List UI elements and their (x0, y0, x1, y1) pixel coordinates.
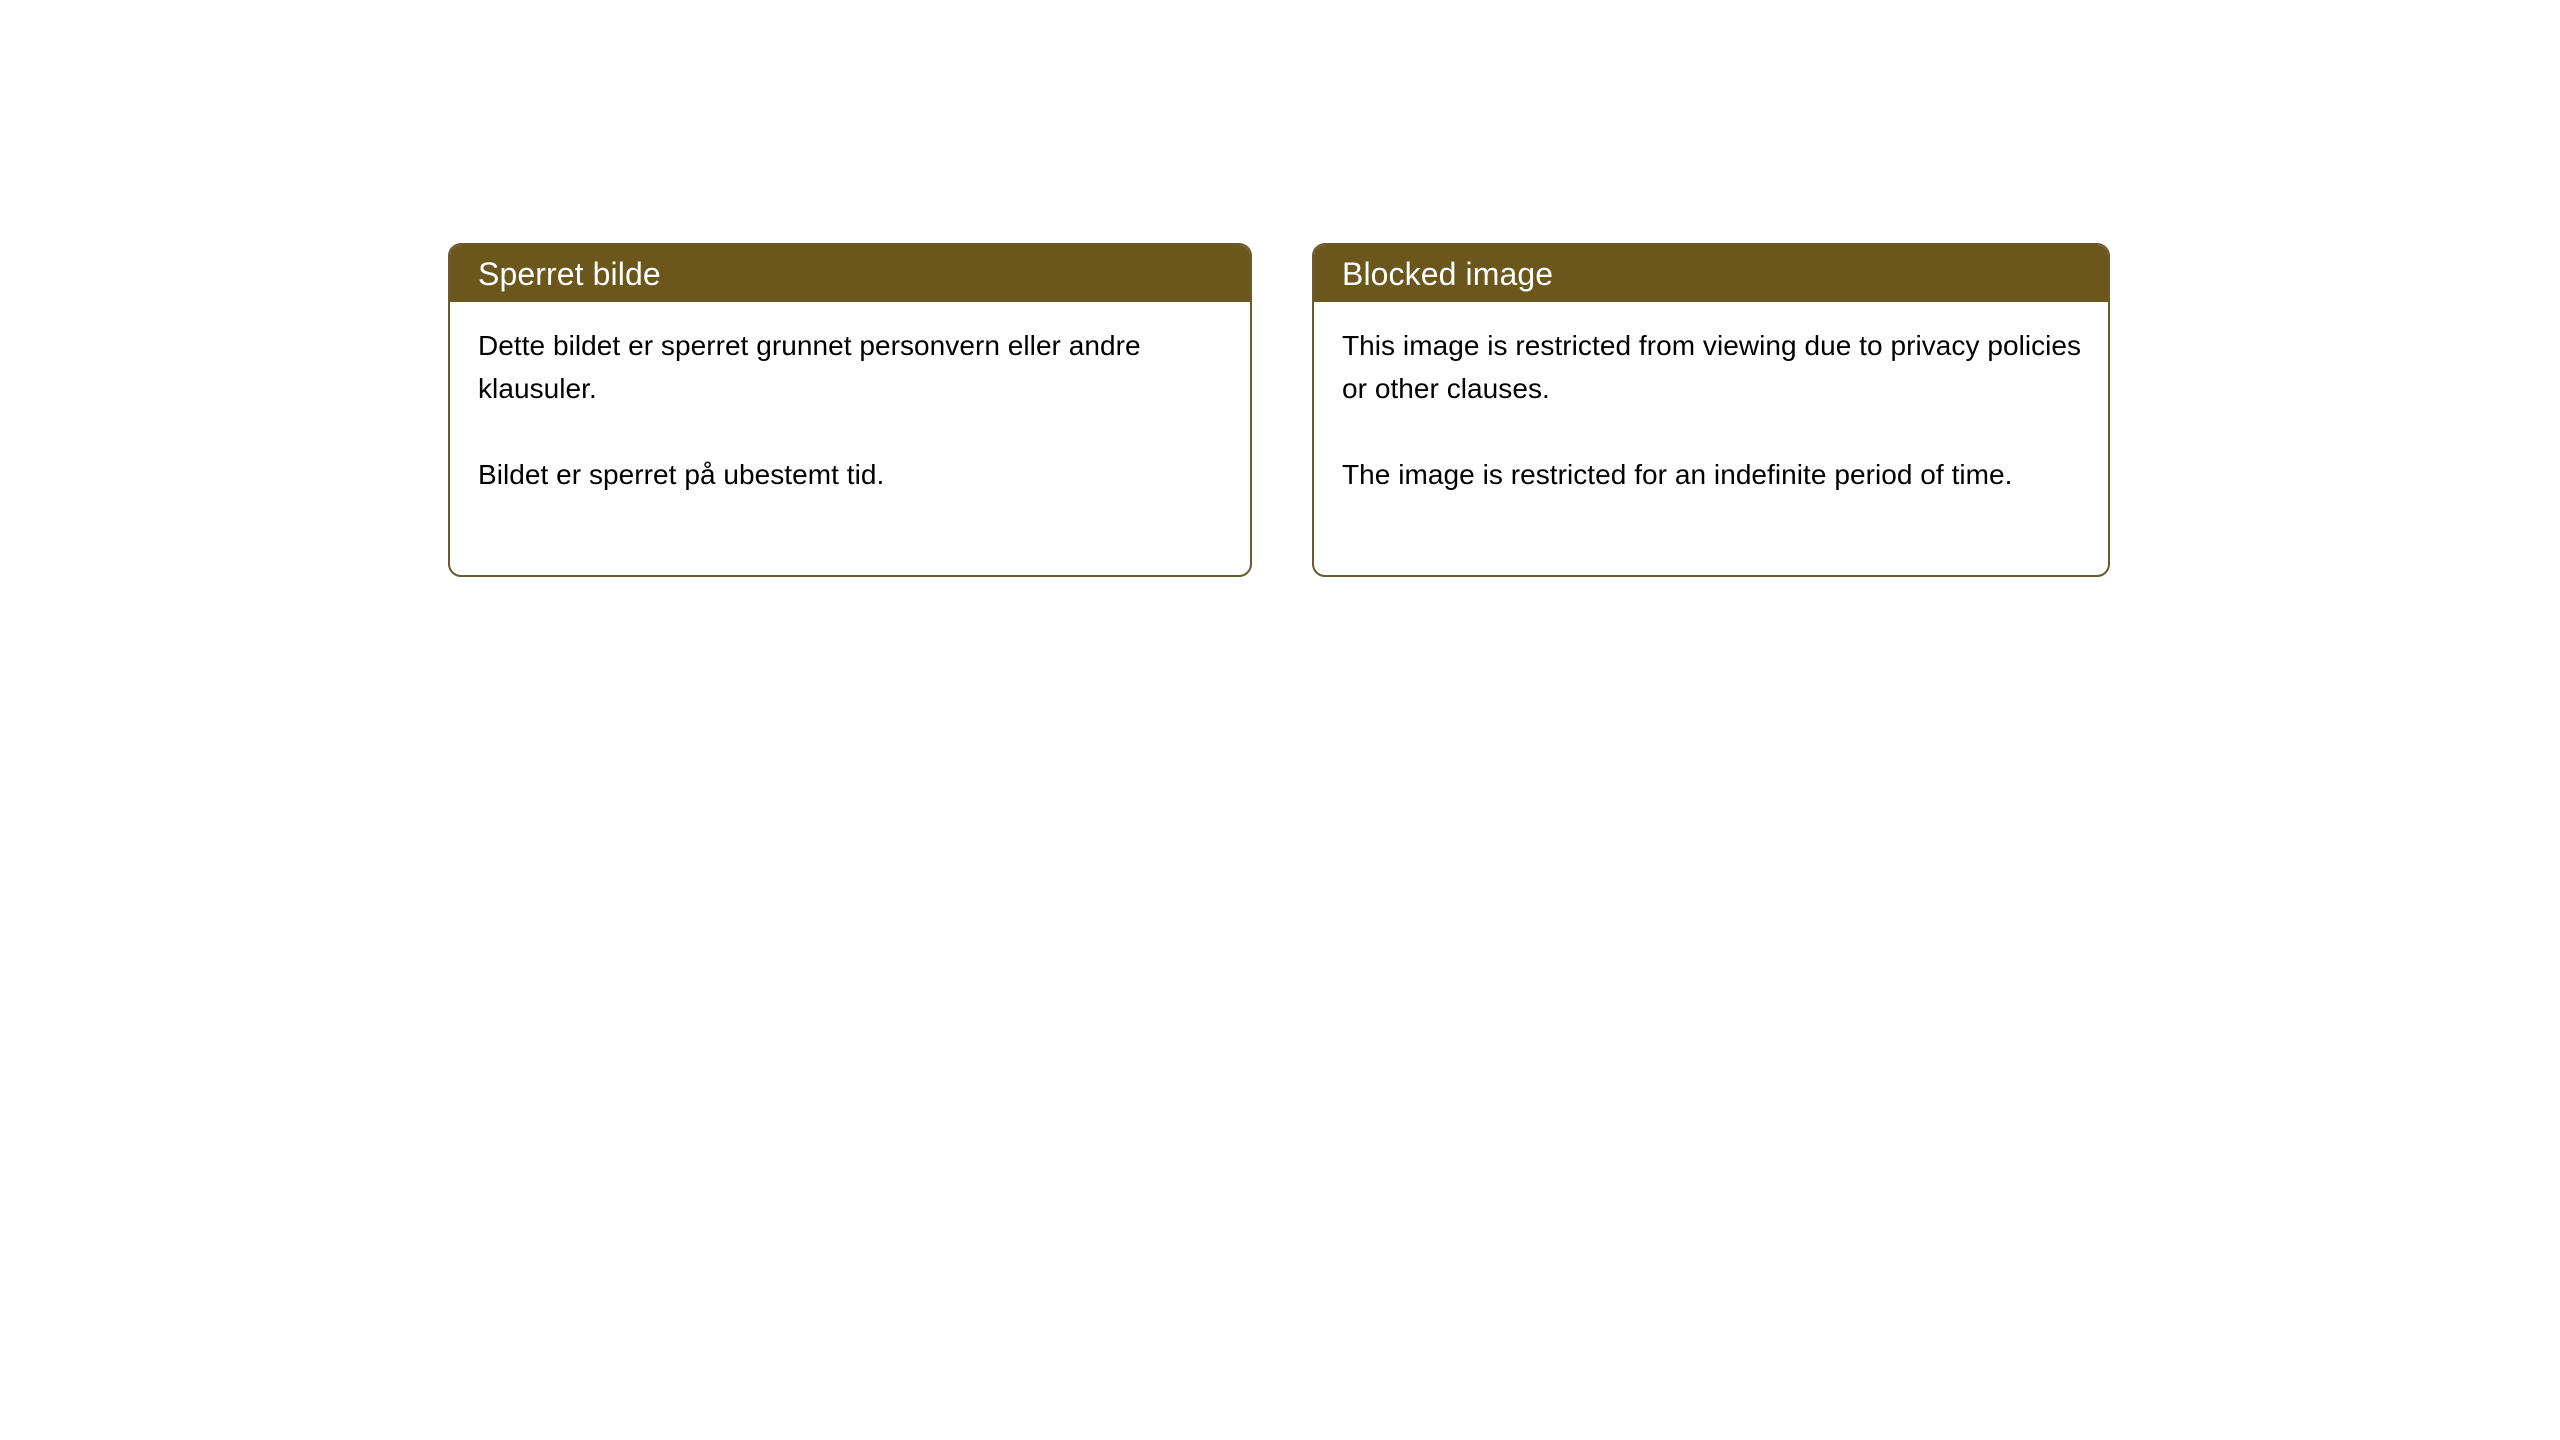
card-paragraph-secondary-no: Bildet er sperret på ubestemt tid. (478, 453, 1224, 496)
card-title-no: Sperret bilde (478, 256, 661, 292)
card-body-en: This image is restricted from viewing du… (1314, 302, 2108, 496)
card-paragraph-secondary-en: The image is restricted for an indefinit… (1342, 453, 2082, 496)
card-title-en: Blocked image (1342, 256, 1553, 292)
page-canvas: Sperret bilde Dette bildet er sperret gr… (0, 0, 2560, 1440)
card-header-no: Sperret bilde (450, 245, 1250, 302)
blocked-image-notice-card-en: Blocked image This image is restricted f… (1312, 243, 2110, 577)
card-paragraph-primary-no: Dette bildet er sperret grunnet personve… (478, 324, 1224, 410)
card-header-en: Blocked image (1314, 245, 2108, 302)
card-paragraph-primary-en: This image is restricted from viewing du… (1342, 324, 2082, 410)
card-body-no: Dette bildet er sperret grunnet personve… (450, 302, 1250, 496)
blocked-image-notice-card-no: Sperret bilde Dette bildet er sperret gr… (448, 243, 1252, 577)
